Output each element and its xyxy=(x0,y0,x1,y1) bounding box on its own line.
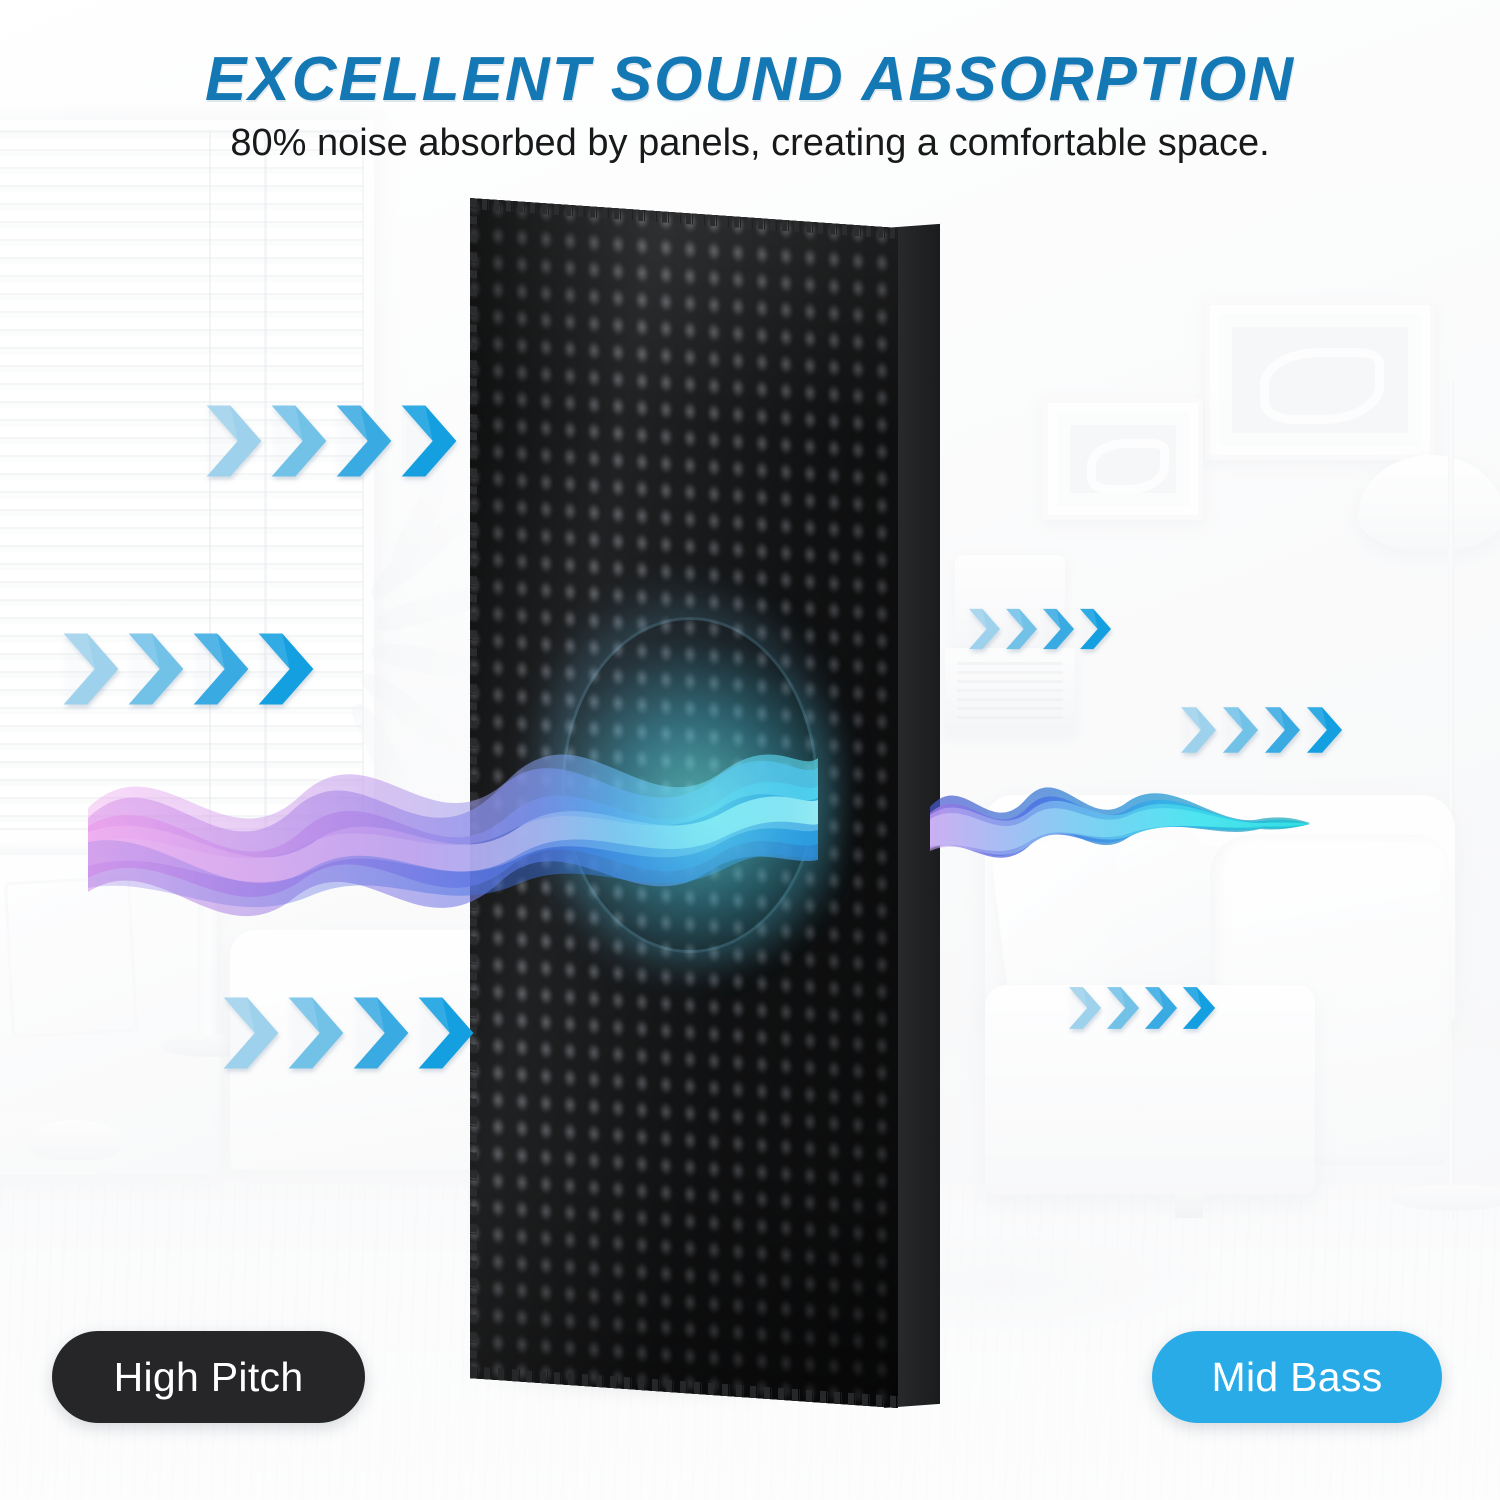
chevron-right-icon xyxy=(257,632,315,706)
chevron-right-icon xyxy=(205,404,263,478)
chevron-right-icon xyxy=(1042,608,1075,650)
chevron-right-icon xyxy=(1005,608,1038,650)
chevron-right-icon xyxy=(1222,706,1259,754)
chevron-right-icon xyxy=(1306,706,1343,754)
chevron-right-icon xyxy=(287,996,345,1070)
sofa-foot xyxy=(1175,1188,1203,1218)
framed-wall-art-small xyxy=(1043,398,1203,520)
arrow-group-right-upper xyxy=(968,608,1112,650)
badge-mid-bass-label: Mid Bass xyxy=(1211,1354,1382,1401)
badge-high-pitch[interactable]: High Pitch xyxy=(52,1331,365,1423)
floor-object xyxy=(30,1120,120,1160)
chevron-right-icon xyxy=(1182,986,1216,1030)
chevron-right-icon xyxy=(62,632,120,706)
chevron-right-icon xyxy=(335,404,393,478)
product-marketing-image: EXCELLENT SOUND ABSORPTION 80% noise abs… xyxy=(0,0,1500,1500)
badge-high-pitch-label: High Pitch xyxy=(114,1354,304,1401)
chevron-right-icon xyxy=(222,996,280,1070)
chevron-right-icon xyxy=(1180,706,1217,754)
page-headline: EXCELLENT SOUND ABSORPTION xyxy=(0,44,1500,115)
chevron-right-icon xyxy=(1144,986,1178,1030)
chevron-right-icon xyxy=(968,608,1001,650)
chevron-right-icon xyxy=(270,404,328,478)
chevron-right-icon xyxy=(1264,706,1301,754)
shelf-box-lower xyxy=(945,648,1075,734)
chevron-right-icon xyxy=(1106,986,1140,1030)
chevron-right-icon xyxy=(1068,986,1102,1030)
chevron-right-icon xyxy=(127,632,185,706)
arrow-group-right-lower xyxy=(1068,986,1216,1030)
framed-wall-art-large xyxy=(1205,300,1435,460)
arrow-group-left-upper xyxy=(205,404,458,478)
outgoing-sound-wave xyxy=(930,745,1310,905)
chevron-right-icon xyxy=(192,632,250,706)
chevron-right-icon xyxy=(400,404,458,478)
chevron-right-icon xyxy=(352,996,410,1070)
arrow-group-left-middle xyxy=(62,632,315,706)
badge-mid-bass[interactable]: Mid Bass xyxy=(1152,1331,1442,1423)
chevron-right-icon xyxy=(417,996,475,1070)
chevron-right-icon xyxy=(1079,608,1112,650)
arrow-group-left-lower xyxy=(222,996,475,1070)
arrow-group-right-middle xyxy=(1180,706,1343,754)
page-subheadline: 80% noise absorbed by panels, creating a… xyxy=(0,122,1500,165)
